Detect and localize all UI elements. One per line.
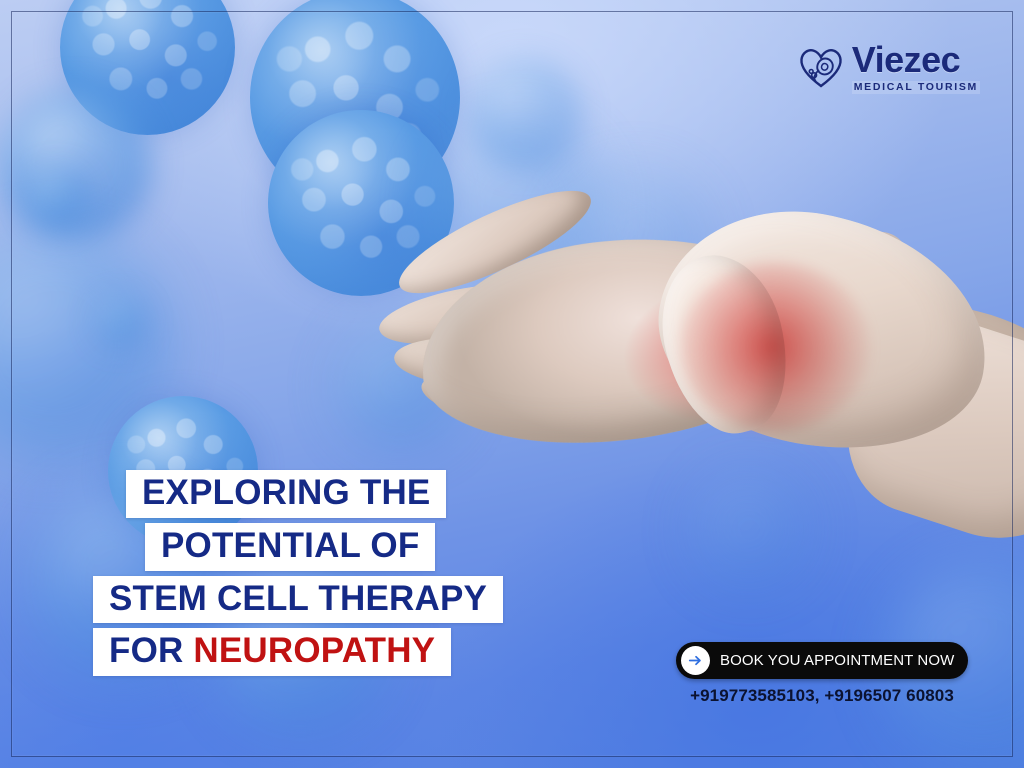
- headline-line-4-prefix: FOR: [109, 631, 193, 670]
- headline-row: EXPLORING THE: [0, 470, 560, 523]
- book-appointment-button[interactable]: BOOK YOU APPOINTMENT NOW: [676, 642, 968, 679]
- cell-sphere: [98, 300, 142, 344]
- contact-phone-numbers[interactable]: +919773585103, +9196507 60803: [676, 686, 968, 706]
- headline-row: POTENTIAL OF: [0, 523, 560, 576]
- poster-canvas: Viezec MEDICAL TOURISM EXPLORING THE POT…: [0, 0, 1024, 768]
- brand-tagline: MEDICAL TOURISM: [852, 81, 980, 94]
- arrow-right-icon: [681, 646, 710, 675]
- cta-block: BOOK YOU APPOINTMENT NOW +919773585103, …: [676, 642, 968, 706]
- headline-line-3: STEM CELL THERAPY: [93, 576, 503, 624]
- headline-line-2: POTENTIAL OF: [145, 523, 435, 571]
- headline-line-1: EXPLORING THE: [126, 470, 446, 518]
- pain-highlight: [680, 262, 870, 432]
- headline-line-4: FOR NEUROPATHY: [93, 628, 451, 676]
- headline-row: FOR NEUROPATHY: [0, 628, 560, 681]
- heart-embryo-icon: [798, 45, 844, 91]
- book-appointment-label: BOOK YOU APPOINTMENT NOW: [720, 652, 954, 669]
- brand-name: Viezec: [852, 42, 980, 78]
- brand-logo: Viezec MEDICAL TOURISM: [798, 42, 980, 94]
- headline-row: STEM CELL THERAPY: [0, 576, 560, 629]
- headline-block: EXPLORING THE POTENTIAL OF STEM CELL THE…: [0, 470, 560, 681]
- headline-accent-word: NEUROPATHY: [193, 631, 435, 670]
- cell-sphere: [470, 60, 580, 170]
- cell-sphere: [30, 170, 86, 226]
